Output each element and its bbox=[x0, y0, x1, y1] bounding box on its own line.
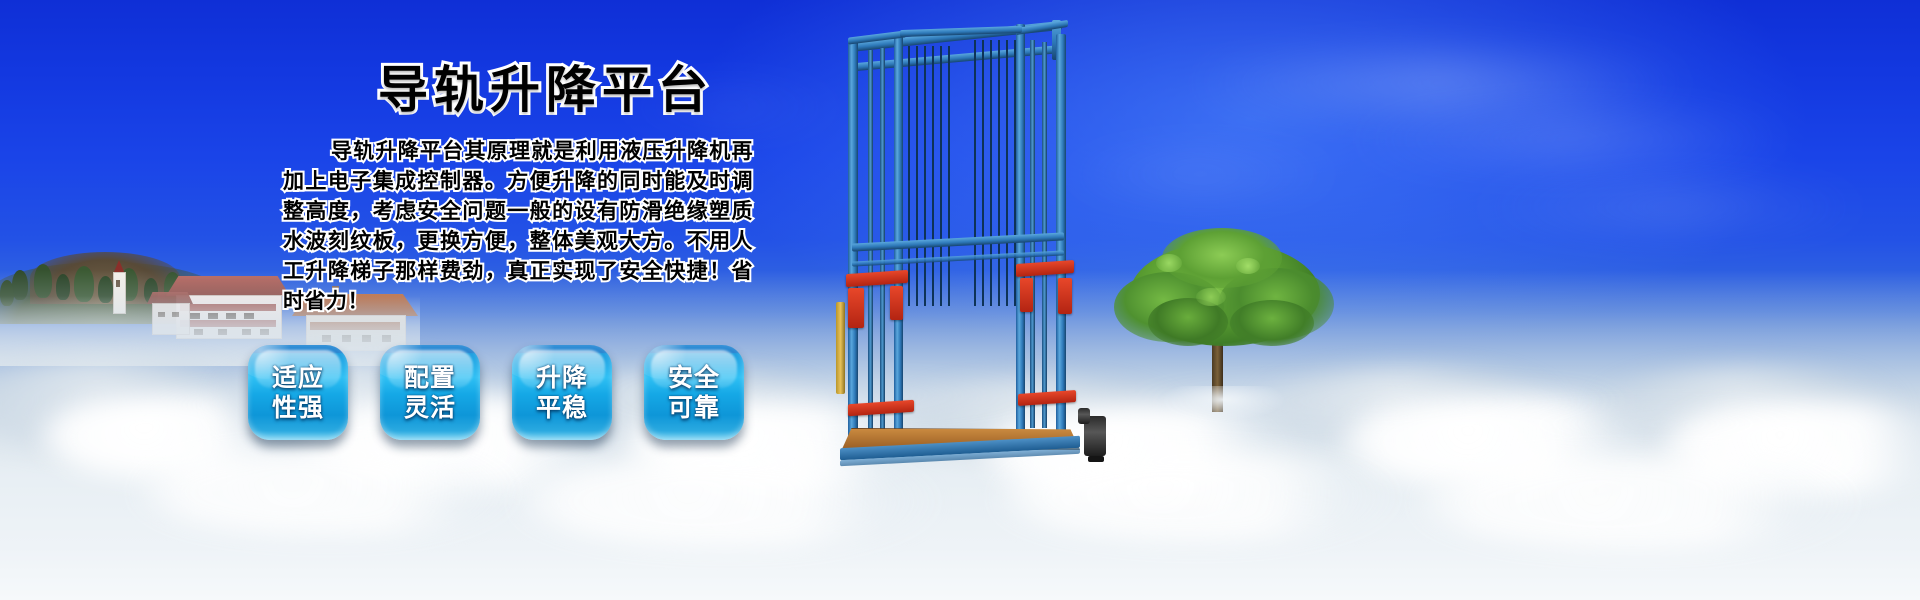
guide-rail-lift-platform-illustration bbox=[820, 10, 1140, 470]
feature-badge-list: 适应性强 配置灵活 升降平稳 安全可靠 bbox=[248, 345, 744, 440]
cable-curtain-right bbox=[972, 40, 1018, 306]
product-description: 导轨升降平台其原理就是利用液压升降机再加上电子集成控制器。方便升降的同时能及时调… bbox=[283, 136, 753, 316]
feature-badge-label: 配置灵活 bbox=[404, 363, 456, 423]
page-title: 导轨升降平台 bbox=[378, 50, 714, 122]
feature-badge-label: 升降平稳 bbox=[536, 363, 588, 423]
cable-curtain-left bbox=[906, 46, 954, 306]
feature-badge-label: 安全可靠 bbox=[668, 363, 720, 423]
tree-illustration bbox=[1108, 228, 1338, 413]
feature-badge-configuration[interactable]: 配置灵活 bbox=[380, 345, 480, 440]
feature-badge-label: 适应性强 bbox=[272, 363, 324, 423]
feature-badge-adaptability[interactable]: 适应性强 bbox=[248, 345, 348, 440]
product-banner: 导轨升降平台 导轨升降平台其原理就是利用液压升降机再加上电子集成控制器。方便升降… bbox=[0, 0, 1920, 600]
feature-badge-smooth-lifting[interactable]: 升降平稳 bbox=[512, 345, 612, 440]
feature-badge-safety[interactable]: 安全可靠 bbox=[644, 345, 744, 440]
